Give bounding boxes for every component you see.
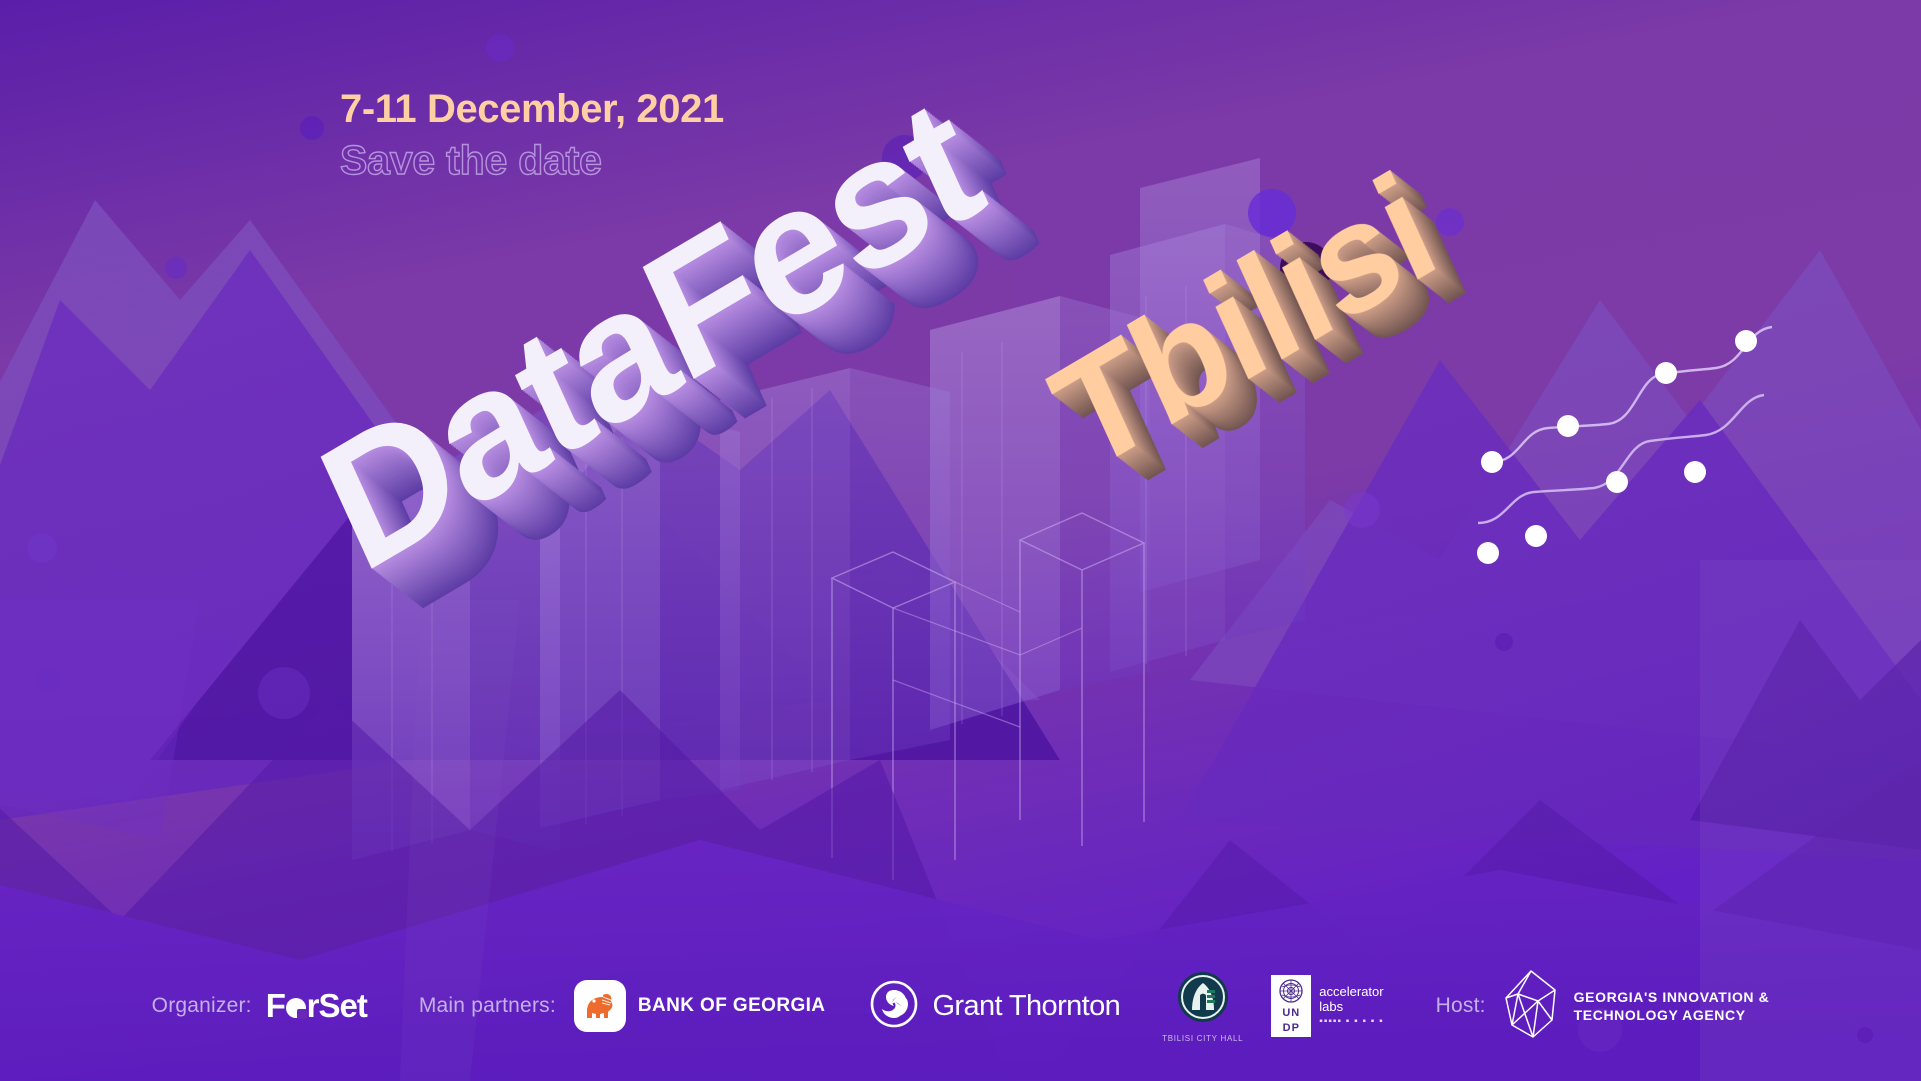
- undp-emblem-icon: [1274, 977, 1308, 1005]
- undp-subtitle-line2: labs: [1319, 999, 1383, 1014]
- undp-subtitle-line1: accelerator: [1319, 984, 1383, 999]
- circle-1: [486, 34, 514, 62]
- poster-canvas: 7-11 December, 2021 Save the date DataFe…: [0, 0, 1921, 1081]
- circle-8: [1495, 633, 1513, 651]
- bank-of-georgia-dog-icon: [574, 980, 626, 1032]
- forset-logo-post: rSet: [307, 987, 367, 1024]
- headline-block: 7-11 December, 2021 Save the date: [340, 88, 724, 182]
- main-partners-label: Main partners:: [419, 994, 556, 1018]
- forset-logo-o-icon: [286, 998, 306, 1018]
- main-partners-group: Main partners:: [419, 970, 1384, 1043]
- data-point: [1557, 415, 1579, 437]
- circle-10: [36, 668, 60, 692]
- building-5: [720, 368, 850, 790]
- undp-letters-dp: DP: [1283, 1023, 1300, 1034]
- host-label: Host:: [1436, 994, 1486, 1018]
- circle-7: [1436, 208, 1464, 236]
- forset-logo-pre: F: [266, 987, 285, 1024]
- data-point: [1525, 525, 1547, 547]
- data-point: [1606, 471, 1628, 493]
- data-point: [1735, 330, 1757, 352]
- circle-11: [258, 667, 310, 719]
- data-point: [1481, 451, 1503, 473]
- tbilisi-city-hall-logo[interactable]: TBILISI CITY HALL: [1162, 970, 1243, 1043]
- data-point: [1655, 362, 1677, 384]
- undp-accelerator-labs-logo[interactable]: UN DP accelerator labs ▪▪▪▪▪ ▪ ▪ ▪ ▪ ▪: [1271, 975, 1383, 1037]
- data-point: [1477, 542, 1499, 564]
- undp-dots-decoration: ▪▪▪▪▪ ▪ ▪ ▪ ▪ ▪: [1319, 1016, 1383, 1028]
- tbilisi-city-hall-name: TBILISI CITY HALL: [1162, 1034, 1243, 1043]
- forset-logo[interactable]: FrSet: [266, 987, 367, 1025]
- circle-12: [1344, 492, 1380, 528]
- grant-thornton-name: Grant Thornton: [932, 990, 1120, 1023]
- undp-box: UN DP: [1271, 975, 1311, 1037]
- bank-of-georgia-logo[interactable]: BANK OF GEORGIA: [574, 980, 826, 1032]
- save-the-date-text: Save the date: [340, 139, 724, 182]
- organizer-label: Organizer:: [152, 994, 252, 1018]
- tbilisi-city-hall-emblem-icon: [1176, 970, 1230, 1029]
- undp-subtitle: accelerator labs ▪▪▪▪▪ ▪ ▪ ▪ ▪ ▪: [1319, 984, 1383, 1028]
- grant-thornton-spiral-icon: [869, 979, 919, 1034]
- bank-of-georgia-name: BANK OF GEORGIA: [638, 995, 826, 1017]
- gita-name-line2: TECHNOLOGY AGENCY: [1574, 1006, 1770, 1024]
- data-point: [1684, 461, 1706, 483]
- event-date: 7-11 December, 2021: [340, 88, 724, 130]
- host-group: Host: GEORGIA'S INNOVATION: [1436, 968, 1770, 1045]
- circle-9: [27, 533, 57, 563]
- undp-letters: UN DP: [1274, 1005, 1308, 1037]
- organizer-group: Organizer: FrSet: [152, 987, 367, 1025]
- sponsor-footer-bar: Organizer: FrSet Main partners:: [0, 931, 1921, 1081]
- gita-name: GEORGIA'S INNOVATION & TECHNOLOGY AGENCY: [1574, 988, 1770, 1025]
- undp-letters-un: UN: [1282, 1008, 1300, 1019]
- gita-name-line1: GEORGIA'S INNOVATION &: [1574, 988, 1770, 1006]
- circle-2: [300, 116, 324, 140]
- gita-crystal-icon: [1500, 968, 1562, 1045]
- circle-3: [165, 257, 187, 279]
- grant-thornton-logo[interactable]: Grant Thornton: [869, 979, 1120, 1034]
